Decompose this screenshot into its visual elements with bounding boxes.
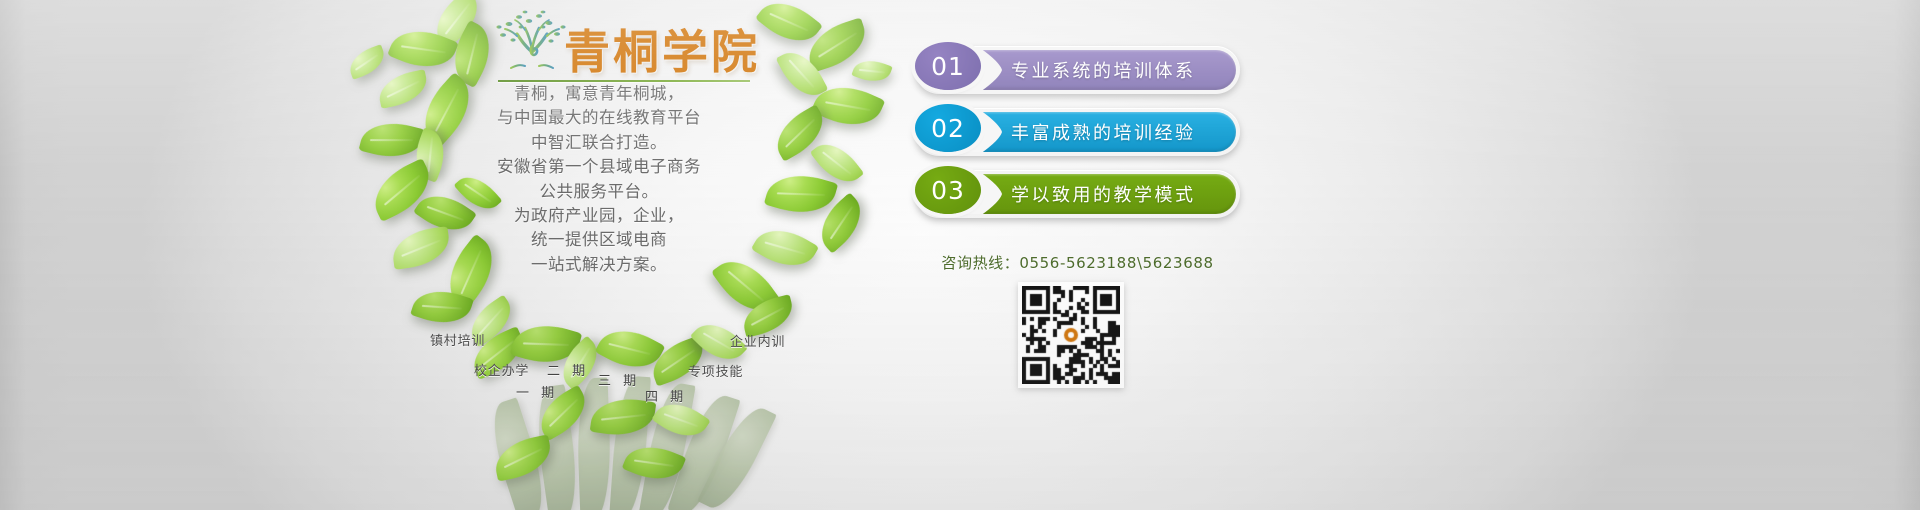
description-line: 中智汇联合打造。	[470, 131, 728, 155]
badge-label: 专业系统的培训体系	[1011, 50, 1196, 90]
bottom-label: 校企办学	[474, 360, 529, 379]
qr-code[interactable]	[1018, 282, 1124, 388]
leaf	[751, 218, 819, 278]
tree-icon	[495, 10, 569, 72]
badge-number: 03	[915, 166, 981, 214]
badge-number: 02	[915, 104, 981, 152]
leaf	[345, 44, 389, 80]
badge-number: 01	[915, 42, 981, 90]
badge-label: 学以致用的教学模式	[1011, 174, 1196, 214]
bottom-label: 镇村培训	[430, 330, 485, 349]
description-line: 安徽省第一个县域电子商务	[470, 155, 728, 179]
leaf	[375, 69, 430, 109]
hotline-text: 咨询热线：0556-5623188\5623688	[915, 252, 1240, 273]
bottom-label: 四 期	[645, 386, 687, 405]
brand-logo-block: 青桐学院	[490, 6, 750, 86]
leaf	[764, 166, 838, 223]
banner-stage: 青桐学院 青桐，寓意青年桐城，与中国最大的在线教育平台中智汇联合打造。安徽省第一…	[0, 0, 1920, 510]
qr-code-canvas	[1022, 286, 1120, 384]
description-line: 统一提供区域电商	[470, 228, 728, 252]
leaf	[851, 55, 892, 88]
feature-badge[interactable]: 丰富成熟的培训经验02	[915, 108, 1240, 156]
description-line: 公共服务平台。	[470, 180, 728, 204]
description-text: 青桐，寓意青年桐城，与中国最大的在线教育平台中智汇联合打造。安徽省第一个县域电子…	[470, 82, 728, 277]
feature-badge[interactable]: 专业系统的培训体系01	[915, 46, 1240, 94]
description-line: 为政府产业园，企业，	[470, 204, 728, 228]
bottom-label: 二 期	[547, 360, 589, 379]
feature-badge-list: 专业系统的培训体系01丰富成熟的培训经验02学以致用的教学模式03	[915, 46, 1240, 232]
description-line: 一站式解决方案。	[470, 253, 728, 277]
description-line: 青桐，寓意青年桐城，	[470, 82, 728, 106]
leaf	[390, 226, 452, 270]
bottom-label: 三 期	[598, 370, 640, 389]
feature-badge[interactable]: 学以致用的教学模式03	[915, 170, 1240, 218]
bottom-label: 一 期	[516, 382, 558, 401]
bottom-label: 专项技能	[688, 361, 743, 380]
bottom-label: 企业内训	[730, 331, 785, 350]
description-line: 与中国最大的在线教育平台	[470, 106, 728, 130]
brand-title: 青桐学院	[564, 16, 760, 82]
badge-label: 丰富成熟的培训经验	[1011, 112, 1196, 152]
